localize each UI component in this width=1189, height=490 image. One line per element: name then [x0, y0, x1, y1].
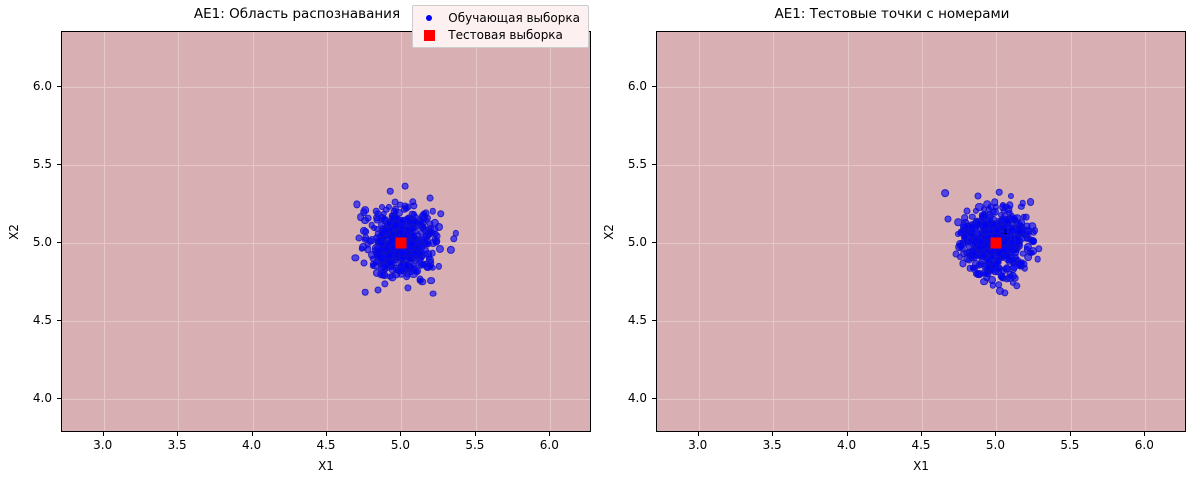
y-axis-tick [652, 242, 656, 243]
panel-right-ylabel: X2 [602, 224, 616, 240]
data-point [408, 240, 416, 248]
gridline-horizontal [657, 243, 1185, 244]
x-axis-tick-label: 4.0 [837, 438, 856, 452]
data-point [401, 183, 408, 190]
data-point [976, 244, 983, 251]
panel-right-plot-area[interactable]: 1 [656, 31, 1186, 432]
data-point [362, 289, 369, 296]
y-axis-tick-label: 5.0 [628, 235, 647, 249]
data-point [435, 244, 443, 252]
data-point [1008, 193, 1014, 199]
data-point [961, 214, 969, 222]
x-axis-tick [103, 432, 104, 436]
x-axis-tick-label: 4.5 [316, 438, 335, 452]
panel-left-legend: Обучающая выборкаТестовая выборка [412, 5, 589, 48]
x-axis-tick [326, 432, 327, 436]
data-point [410, 202, 417, 209]
data-point [381, 280, 388, 287]
data-point [424, 241, 431, 248]
y-axis-tick [652, 398, 656, 399]
gridline-vertical [699, 32, 700, 431]
x-axis-tick-label: 4.5 [911, 438, 930, 452]
gridline-horizontal [657, 165, 1185, 166]
gridline-vertical [550, 32, 551, 431]
y-axis-tick [57, 86, 61, 87]
data-point [959, 245, 966, 252]
data-point [373, 208, 380, 215]
y-axis-tick [57, 320, 61, 321]
x-axis-tick-label: 6.0 [540, 438, 559, 452]
gridline-horizontal [657, 399, 1185, 400]
legend-item-label: Тестовая выборка [448, 28, 563, 42]
x-axis-tick-label: 5.0 [391, 438, 410, 452]
legend-item-label: Обучающая выборка [448, 11, 580, 25]
gridline-horizontal [62, 87, 590, 88]
gridline-vertical [178, 32, 179, 431]
data-point [959, 260, 966, 267]
test-point-marker [991, 237, 1002, 248]
data-point [996, 189, 1003, 196]
data-point [397, 201, 404, 208]
data-point [1001, 207, 1008, 214]
y-axis-tick-label: 5.5 [33, 157, 52, 171]
x-axis-tick-label: 3.0 [93, 438, 112, 452]
x-axis-tick-label: 3.0 [688, 438, 707, 452]
panel-left-xlabel: X1 [61, 459, 591, 473]
y-axis-tick [57, 398, 61, 399]
gridline-vertical [476, 32, 477, 431]
data-point [1015, 235, 1022, 242]
data-point [974, 270, 982, 278]
x-axis-tick-label: 3.5 [763, 438, 782, 452]
panel-right-title: AE1: Тестовые точки с номерами [595, 6, 1189, 22]
data-point [1020, 200, 1027, 207]
data-point [375, 286, 382, 293]
y-axis-tick [652, 164, 656, 165]
data-point [403, 205, 410, 212]
data-point [453, 230, 459, 236]
data-point [434, 232, 441, 239]
data-point [388, 238, 396, 246]
data-point [1034, 255, 1041, 262]
data-point [995, 249, 1003, 257]
data-point [381, 227, 389, 235]
y-axis-tick-label: 6.0 [33, 79, 52, 93]
gridline-vertical [253, 32, 254, 431]
data-point [378, 240, 385, 247]
data-point [1029, 237, 1037, 245]
legend-circle-marker-icon [426, 15, 432, 21]
gridline-vertical [327, 32, 328, 431]
data-point [398, 272, 405, 279]
panel-left-ylabel: X2 [7, 224, 21, 240]
test-point-marker [396, 237, 407, 248]
x-axis-tick-label: 6.0 [1135, 438, 1154, 452]
y-axis-tick [652, 320, 656, 321]
panel-left-plot-area[interactable] [61, 31, 591, 432]
gridline-horizontal [62, 165, 590, 166]
legend-swatch [419, 30, 439, 41]
x-axis-tick [1070, 432, 1071, 436]
x-axis-tick [549, 432, 550, 436]
data-point [430, 208, 436, 214]
data-point [941, 189, 949, 197]
data-point [1024, 223, 1031, 230]
data-point [1008, 246, 1015, 253]
gridline-vertical [1071, 32, 1072, 431]
y-axis-tick [57, 164, 61, 165]
panel-left: AE1: Область распознавания 3.03.54.04.55… [0, 0, 594, 490]
x-axis-tick [177, 432, 178, 436]
data-point [398, 249, 406, 257]
y-axis-tick-label: 4.5 [628, 313, 647, 327]
data-point [1018, 259, 1026, 267]
data-point [353, 201, 360, 208]
x-axis-tick [400, 432, 401, 436]
data-point [387, 188, 394, 195]
data-point [417, 278, 424, 285]
data-point [447, 246, 455, 254]
gridline-horizontal [62, 321, 590, 322]
data-point [374, 216, 381, 223]
y-axis-tick [57, 242, 61, 243]
x-axis-tick [475, 432, 476, 436]
y-axis-tick-label: 6.0 [628, 79, 647, 93]
data-point [1027, 198, 1035, 206]
data-point [427, 195, 434, 202]
x-axis-tick [698, 432, 699, 436]
x-axis-tick-label: 3.5 [168, 438, 187, 452]
x-axis-tick-label: 5.5 [465, 438, 484, 452]
data-point [378, 270, 386, 278]
y-axis-tick [652, 86, 656, 87]
gridline-vertical [773, 32, 774, 431]
x-axis-tick [1144, 432, 1145, 436]
data-point [944, 216, 951, 223]
y-axis-tick-label: 4.0 [628, 391, 647, 405]
legend-item[interactable]: Тестовая выборка [419, 28, 580, 42]
data-point [421, 247, 429, 255]
legend-swatch [419, 15, 439, 21]
data-point [429, 290, 436, 297]
data-point [404, 215, 412, 223]
data-point [995, 219, 1002, 226]
x-axis-tick [847, 432, 848, 436]
data-point [361, 206, 369, 214]
data-point [1010, 263, 1018, 271]
y-axis-tick-label: 5.0 [33, 235, 52, 249]
legend-square-marker-icon [424, 30, 435, 41]
data-point [974, 192, 981, 199]
gridline-vertical [922, 32, 923, 431]
data-point [995, 259, 1002, 266]
data-point [404, 285, 411, 292]
data-point [968, 223, 976, 231]
data-point [1035, 245, 1042, 252]
panel-right-xlabel: X1 [656, 459, 1186, 473]
point-number-label: 1 [1003, 230, 1007, 236]
gridline-vertical [848, 32, 849, 431]
gridline-vertical [1145, 32, 1146, 431]
data-point [381, 216, 388, 223]
gridline-vertical [104, 32, 105, 431]
gridline-horizontal [657, 87, 1185, 88]
x-axis-tick [772, 432, 773, 436]
x-axis-tick-label: 5.0 [986, 438, 1005, 452]
x-axis-tick [252, 432, 253, 436]
gridline-horizontal [657, 321, 1185, 322]
y-axis-tick-label: 4.0 [33, 391, 52, 405]
data-point [427, 277, 435, 285]
data-point [352, 254, 359, 261]
data-point [427, 263, 434, 270]
data-point [989, 282, 995, 288]
gridline-horizontal [62, 399, 590, 400]
x-axis-tick-label: 5.5 [1060, 438, 1079, 452]
legend-item[interactable]: Обучающая выборка [419, 11, 580, 25]
data-point [383, 207, 390, 214]
gridline-horizontal [62, 243, 590, 244]
y-axis-tick-label: 4.5 [33, 313, 52, 327]
data-point [437, 210, 445, 218]
x-axis-tick [921, 432, 922, 436]
data-point [1017, 219, 1025, 227]
data-point [1025, 231, 1032, 238]
data-point [435, 263, 441, 269]
panel-right: AE1: Тестовые точки с номерами 1 3.03.54… [595, 0, 1189, 490]
data-point [387, 273, 394, 280]
x-axis-tick [995, 432, 996, 436]
data-point [980, 252, 988, 260]
x-axis-tick-label: 4.0 [242, 438, 261, 452]
data-point [373, 259, 380, 266]
figure-canvas: AE1: Область распознавания 3.03.54.04.55… [0, 0, 1189, 490]
y-axis-tick-label: 5.5 [628, 157, 647, 171]
data-point [360, 259, 367, 266]
